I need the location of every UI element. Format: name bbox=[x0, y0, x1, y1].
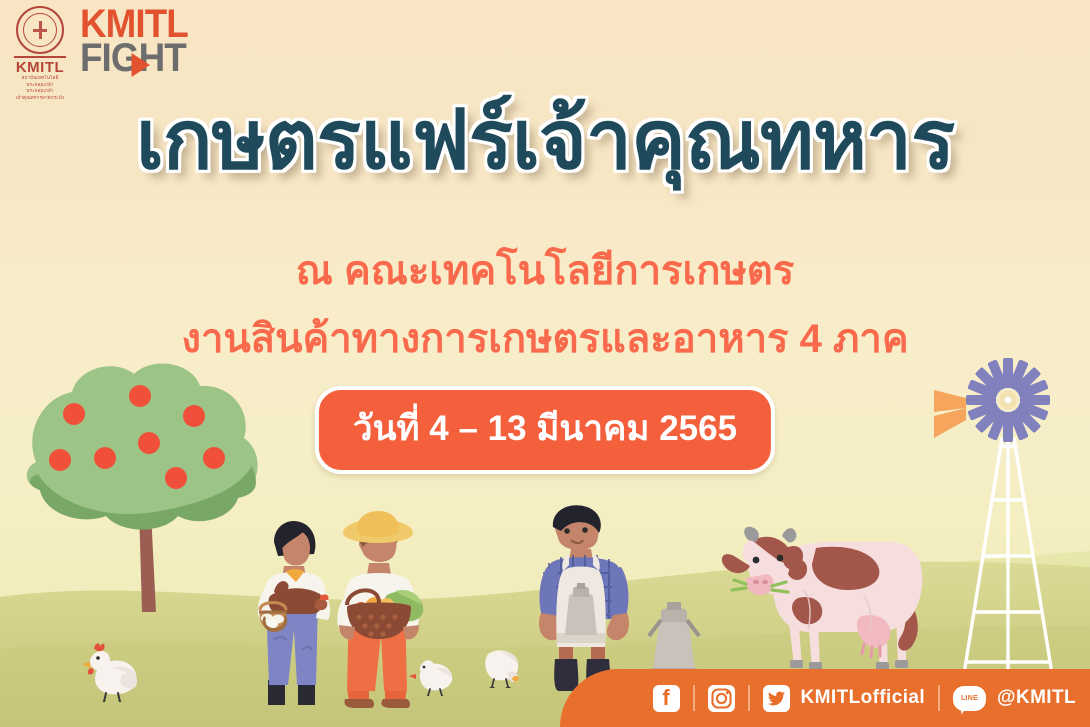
social-links: f KMITLofficial LINE @KMITL bbox=[560, 669, 1090, 727]
venue-line: ณ คณะเทคโนโลยีการเกษตร bbox=[0, 238, 1090, 302]
divider bbox=[938, 685, 940, 711]
chicken-illustration bbox=[70, 640, 142, 702]
divider bbox=[693, 685, 695, 711]
twitter-icon[interactable] bbox=[763, 685, 790, 712]
date-badge: วันที่ 4 – 13 มีนาคม 2565 bbox=[315, 386, 775, 474]
line-icon[interactable]: LINE bbox=[953, 686, 986, 711]
dairy-cow-illustration bbox=[712, 520, 947, 680]
chicken-illustration bbox=[478, 640, 526, 688]
kmitl-seal-logo: KMITL สถาบันเทคโนโลยีพระจอมเกล้า พระจอมเ… bbox=[14, 6, 66, 102]
instagram-icon[interactable] bbox=[708, 685, 735, 712]
line-handle[interactable]: @KMITL bbox=[997, 687, 1076, 709]
twitter-handle[interactable]: KMITLofficial bbox=[801, 687, 925, 709]
divider bbox=[748, 685, 750, 711]
milk-can-illustration bbox=[645, 590, 703, 680]
facebook-glyph: f bbox=[653, 685, 680, 712]
line-label: LINE bbox=[953, 686, 986, 711]
brand-logo-block: KMITL สถาบันเทคโนโลยีพระจอมเกล้า พระจอมเ… bbox=[14, 6, 197, 102]
kmitl-fight-wordmark: KMITL FIGHT bbox=[80, 8, 197, 75]
wordmark-fight: FIGHT bbox=[80, 42, 188, 76]
person-dairy-farmer bbox=[525, 495, 645, 695]
play-icon bbox=[132, 53, 150, 77]
kmitl-seal-thai-line-2: พระจอมเกล้า bbox=[14, 88, 66, 95]
kmitl-crest-icon bbox=[16, 6, 64, 54]
kmitl-seal-thai-line-1: สถาบันเทคโนโลยีพระจอมเกล้า bbox=[14, 75, 66, 88]
page-title: เกษตรแฟร์เจ้าคุณทหาร bbox=[0, 96, 1090, 186]
apple-tree-illustration bbox=[16, 352, 274, 652]
farm-windmill-illustration bbox=[930, 350, 1090, 690]
chicken-illustration bbox=[408, 650, 456, 696]
kmitl-seal-wordmark: KMITL bbox=[14, 56, 66, 75]
event-description-line: งานสินค้าทางการเกษตรและอาหาร 4 ภาค bbox=[0, 306, 1090, 370]
poster-canvas: KMITL สถาบันเทคโนโลยีพระจอมเกล้า พระจอมเ… bbox=[0, 0, 1090, 727]
facebook-icon[interactable]: f bbox=[653, 685, 680, 712]
